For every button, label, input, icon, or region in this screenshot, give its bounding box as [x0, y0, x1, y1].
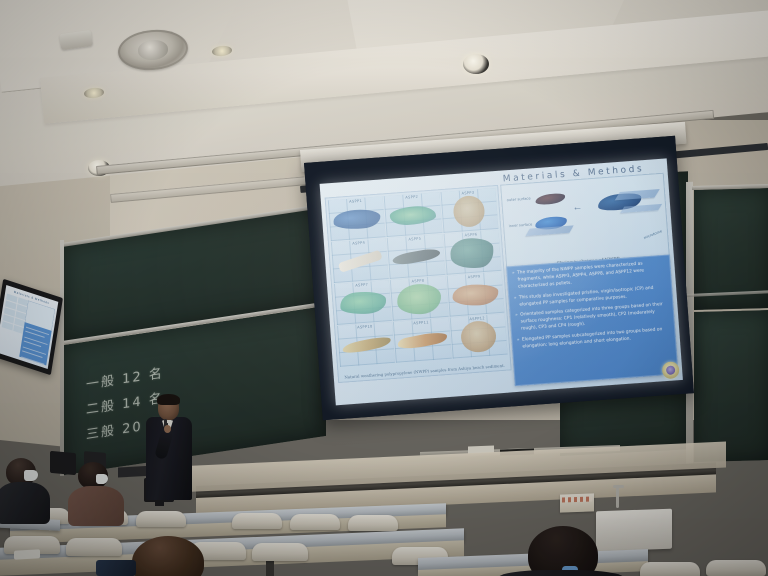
face-mask-icon — [24, 470, 38, 481]
tissue-box — [560, 493, 594, 512]
sample-label: ASPP5 — [408, 237, 421, 242]
sink-basin — [596, 509, 672, 552]
wall-monitor-screen: Materials & Methods — [0, 285, 58, 369]
sample-blob — [460, 320, 496, 354]
sample-blob — [453, 195, 486, 228]
sample-cell: ASPP7 — [334, 280, 392, 325]
faucet-head[interactable] — [613, 485, 624, 488]
seat — [66, 538, 122, 556]
sample-blob — [389, 205, 437, 226]
diagram-slab-upper — [615, 189, 660, 200]
sample-label: ASPP10 — [357, 324, 373, 329]
diagram-chip-outer — [535, 192, 566, 206]
sample-blob — [392, 247, 441, 267]
sample-cell: ASPP4 — [331, 238, 389, 283]
desk-monitor-left — [50, 451, 76, 475]
sample-label: ASPP9 — [468, 274, 481, 279]
seat — [290, 514, 340, 530]
chalkboard-frame-left-edge — [60, 240, 64, 476]
sample-blob — [452, 283, 499, 307]
presenter-hair — [157, 394, 180, 405]
bag-on-desk — [96, 560, 136, 576]
sample-label: ASPP7 — [355, 283, 368, 288]
diagram-label-inner-surface: inner surface — [508, 222, 532, 228]
diagram-label-outer-surface: outer surface — [507, 197, 531, 203]
sample-blob — [396, 283, 442, 316]
bullet-box: The majority of the NWPP samples were ch… — [507, 255, 679, 387]
desk-monitor-stand — [155, 500, 164, 506]
sample-blob — [339, 291, 387, 316]
lecture-hall-photo: 一般 12 名 二般 14 名 三般 20 名 Materials & Meth… — [0, 0, 768, 576]
sample-cell: ASPP12 — [449, 314, 507, 359]
slide-content: Materials & Methods ASPP1 ASPP2 ASPP3 — [320, 158, 683, 405]
audience-torso — [0, 482, 50, 524]
ceiling-downlight-1 — [463, 54, 489, 74]
seat — [640, 562, 700, 576]
sample-cell: ASPP10 — [337, 322, 395, 367]
sample-label: ASPP4 — [352, 241, 365, 246]
sample-blob — [337, 250, 382, 273]
sample-image-grid: ASPP1 ASPP2 ASPP3 ASPP4 — [328, 188, 508, 367]
diagram-label-microtome: microtome — [643, 229, 662, 240]
presenter-hand — [164, 425, 171, 433]
sample-label: ASPP8 — [411, 279, 424, 284]
sample-cell: ASPP9 — [446, 272, 504, 317]
sample-blob — [397, 330, 448, 352]
sample-label: ASPP3 — [461, 191, 474, 196]
chalkboard-right-lower-b — [694, 310, 768, 462]
university-seal-logo — [662, 361, 680, 379]
seat — [252, 543, 308, 561]
seat — [136, 511, 186, 527]
figure-panel: ASPP1 ASPP2 ASPP3 ASPP4 — [325, 185, 512, 383]
seat — [706, 560, 766, 576]
seat — [232, 513, 282, 529]
sample-label: ASPP2 — [405, 195, 418, 200]
sample-cell: ASPP8 — [390, 276, 448, 321]
sample-label: ASPP6 — [464, 232, 477, 237]
sample-blob — [333, 208, 382, 230]
sample-blob — [450, 237, 495, 270]
sample-cell: ASPP6 — [443, 230, 501, 275]
diagram-slab-lower — [526, 225, 574, 236]
sample-blob — [341, 335, 391, 356]
diagram-arrow-icon: ← — [572, 203, 583, 214]
paper-on-desk — [14, 549, 40, 559]
sample-cell: ASPP1 — [328, 196, 386, 241]
presenter — [140, 395, 198, 500]
sample-cell: ASPP11 — [393, 318, 451, 363]
projection-screen: Materials & Methods ASPP1 ASPP2 ASPP3 — [304, 136, 694, 421]
faucet-stem[interactable] — [616, 486, 619, 508]
sample-cell: ASPP2 — [384, 192, 442, 237]
audience-torso — [68, 486, 124, 526]
sample-cell: ASPP3 — [440, 188, 498, 233]
audience-torso-foreground — [498, 570, 624, 576]
wall-monitor-bullet-box — [19, 322, 52, 366]
sample-label: ASPP11 — [413, 320, 429, 325]
sample-cell: ASPP5 — [387, 234, 445, 279]
sample-label: ASPP1 — [349, 199, 362, 204]
figure-caption: Natural weathering polypropylene (NWPP) … — [338, 363, 512, 382]
seat — [348, 515, 398, 531]
